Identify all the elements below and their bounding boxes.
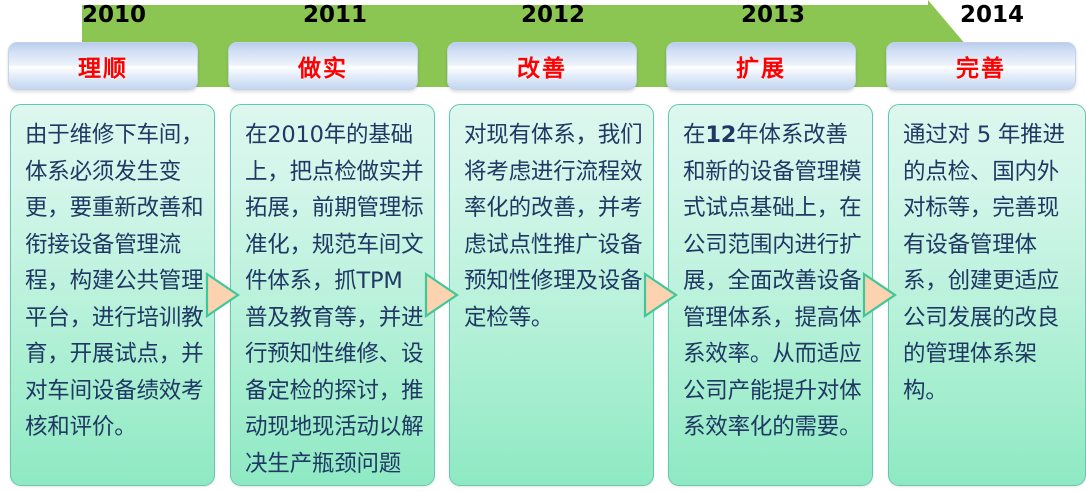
stage-body-2011: 在2010年的基础上，把点检做实并拓展，前期管理标准化，规范车间文件体系，抓TP… xyxy=(230,104,435,486)
stage-header-label: 改善 xyxy=(517,49,567,83)
stage-header-label: 扩展 xyxy=(736,49,786,83)
year-label-2010: 2010 xyxy=(82,2,146,28)
connector-2011-2012 xyxy=(423,272,459,318)
stage-header-label: 做实 xyxy=(298,49,348,83)
stage-body-text: 在12年体系改善和新的设备管理模式试点基础上，在公司范围内进行扩展，全面改善设备… xyxy=(669,105,872,446)
stage-body-2010: 由于维修下车间，体系必须发生变更，要重新改善和衔接设备管理流程，构建公共管理平台… xyxy=(10,104,215,486)
stage-body-text: 对现有体系，我们将考虑进行流程效率化的改善，并考虑试点性推广设备预知性修理及设备… xyxy=(450,105,653,336)
stage-body-text: 由于维修下车间，体系必须发生变更，要重新改善和衔接设备管理流程，构建公共管理平台… xyxy=(11,105,214,446)
connector-2013-2014 xyxy=(861,272,897,318)
stage-header-label: 理顺 xyxy=(78,49,128,83)
stage-header-2010[interactable]: 理顺 xyxy=(8,42,198,90)
connector-2012-2013 xyxy=(642,272,678,318)
stage-body-2012: 对现有体系，我们将考虑进行流程效率化的改善，并考虑试点性推广设备预知性修理及设备… xyxy=(449,104,654,486)
stage-header-2011[interactable]: 做实 xyxy=(228,42,418,90)
timeline-diagram: 2010 2011 2012 2013 2014 理顺 做实 改善 扩展 完善 … xyxy=(0,0,1086,492)
stage-header-2013[interactable]: 扩展 xyxy=(666,42,856,90)
stage-body-text: 在2010年的基础上，把点检做实并拓展，前期管理标准化，规范车间文件体系，抓TP… xyxy=(231,105,434,486)
right-triangle-icon xyxy=(642,272,678,318)
right-triangle-icon xyxy=(423,272,459,318)
stage-header-label: 完善 xyxy=(956,49,1006,83)
stage-body-2014: 通过对 5 年推进的点检、国内外对标等，完善现有设备管理体系，创建更适应公司发展… xyxy=(888,104,1086,486)
connector-2010-2011 xyxy=(204,272,240,318)
year-label-2011: 2011 xyxy=(303,2,367,28)
right-triangle-icon xyxy=(204,272,240,318)
year-label-2013: 2013 xyxy=(741,2,805,28)
year-label-2012: 2012 xyxy=(521,2,585,28)
stage-body-2013: 在12年体系改善和新的设备管理模式试点基础上，在公司范围内进行扩展，全面改善设备… xyxy=(668,104,873,486)
stage-header-2014[interactable]: 完善 xyxy=(886,42,1076,90)
stage-header-2012[interactable]: 改善 xyxy=(447,42,637,90)
stage-body-text: 通过对 5 年推进的点检、国内外对标等，完善现有设备管理体系，创建更适应公司发展… xyxy=(889,105,1085,409)
year-label-2014: 2014 xyxy=(960,2,1024,28)
right-triangle-icon xyxy=(861,272,897,318)
